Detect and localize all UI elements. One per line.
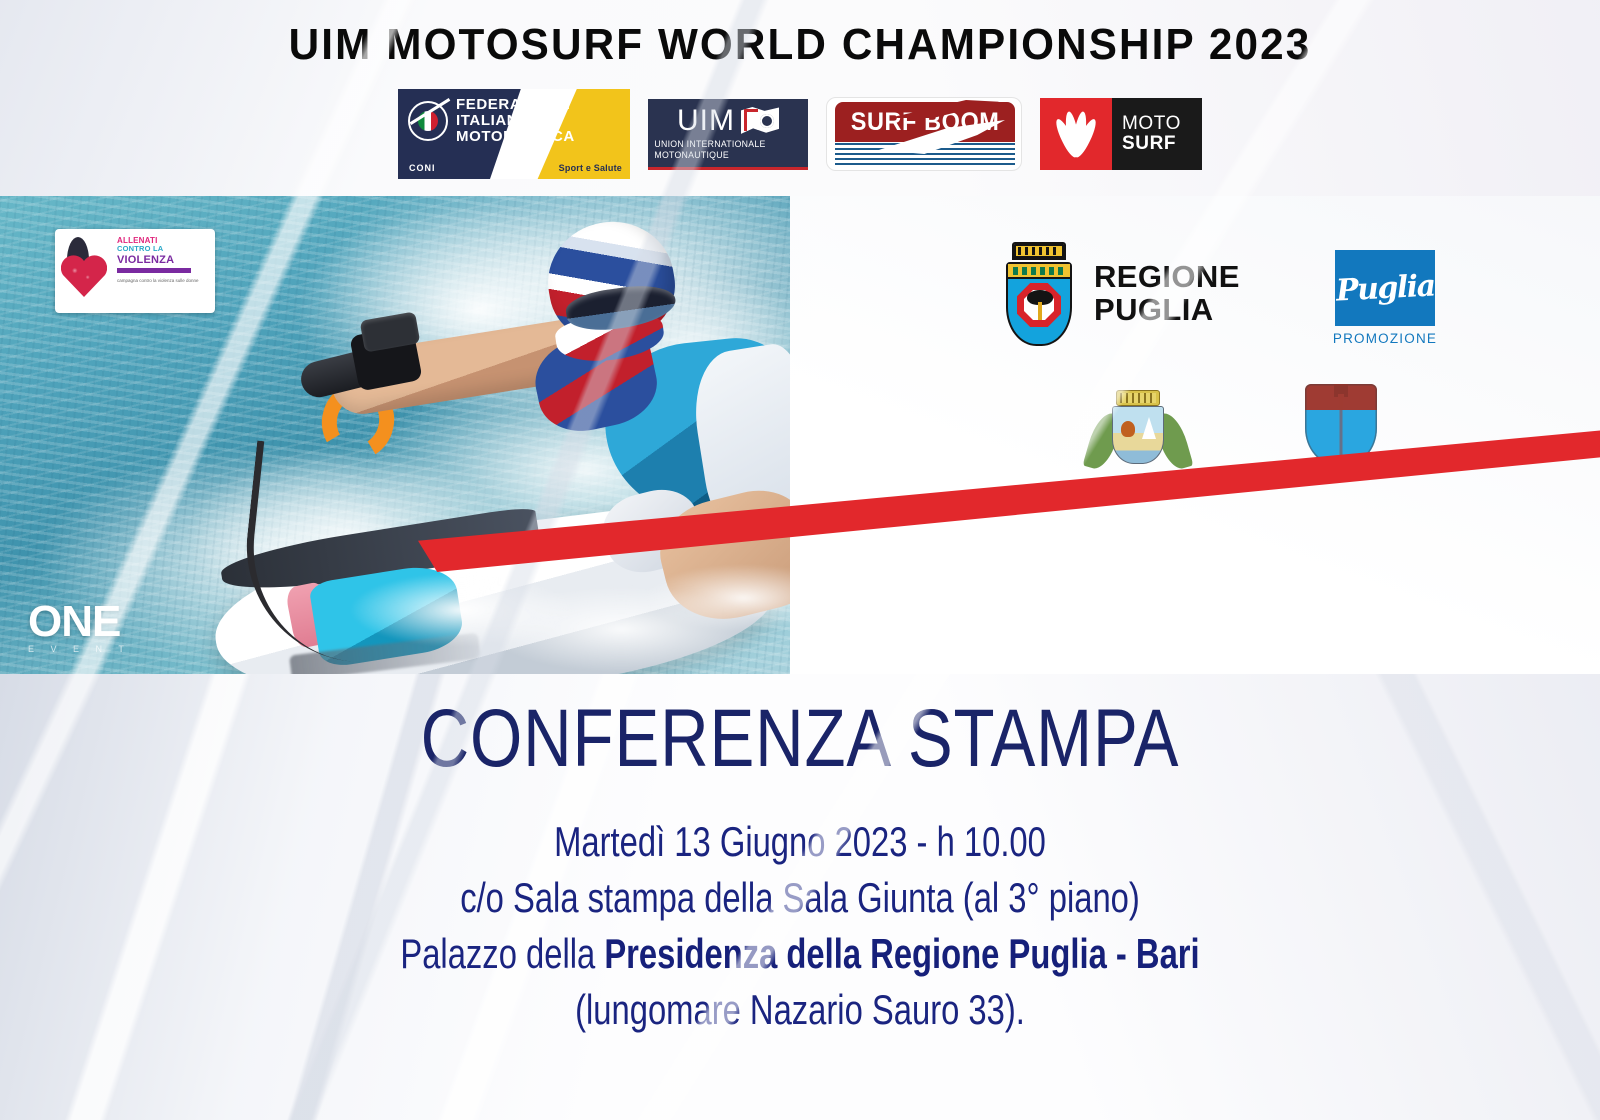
event-room-line: c/o Sala stampa della Sala Giunta (al 3°… xyxy=(176,870,1424,926)
comune-coat-of-arms-1 xyxy=(1090,390,1186,496)
event-datetime-line: Martedì 13 Giugno 2023 - h 10.00 xyxy=(176,814,1424,870)
fim-line-1: FEDERAZIONE xyxy=(456,97,575,113)
campaign-line-2: CONTRO LA xyxy=(117,245,210,254)
institutional-sponsor-block: REGIONE PUGLIA Puglia PROMOZIONE Cagnano… xyxy=(960,232,1580,512)
regione-puglia-coat-of-arms-icon xyxy=(1000,242,1078,346)
comune-coat-of-arms-2: Cagnano Varano xyxy=(1295,384,1387,482)
uim-logo: UIM UNION INTERNATIONALE MOTONAUTIQUE xyxy=(648,99,808,170)
page-title: UIM MOTOSURF WORLD CHAMPIONSHIP 2023 xyxy=(32,20,1568,70)
regione-puglia-wordmark: REGIONE PUGLIA xyxy=(1094,261,1240,326)
one-event-subtitle: E V E N T xyxy=(28,644,131,654)
comune-1-ribbon xyxy=(1102,480,1174,494)
campaign-artwork xyxy=(55,229,115,313)
uim-subtitle: UNION INTERNATIONALE MOTONAUTIQUE xyxy=(654,139,801,161)
comune-1-shield-icon xyxy=(1112,406,1164,464)
fim-line-3: MOTONAUTICA xyxy=(456,129,575,145)
federazione-italiana-motonautica-logo: FEDERAZIONE ITALIANA MOTONAUTICA CONI Sp… xyxy=(398,89,630,179)
moto-surf-logo: MOTO SURF xyxy=(1040,98,1202,170)
regione-line-1: REGIONE xyxy=(1094,261,1240,294)
coni-label: CONI xyxy=(409,163,436,173)
pugliapromozione-logo: Puglia PROMOZIONE xyxy=(1330,250,1440,346)
venue-prefix: Palazzo della xyxy=(400,930,604,977)
puglia-script-wordmark: Puglia xyxy=(1335,268,1435,308)
foam-wake xyxy=(330,562,790,674)
fim-wordmark: FEDERAZIONE ITALIANA MOTONAUTICA xyxy=(456,97,575,144)
event-details-text: Martedì 13 Giugno 2023 - h 10.00 c/o Sal… xyxy=(0,814,1600,1037)
anti-violence-campaign-banner: ALLENATI CONTRO LA VIOLENZA campagna con… xyxy=(55,229,215,313)
uim-acronym: UIM xyxy=(677,104,735,138)
sponsor-logo-row: FEDERAZIONE ITALIANA MOTONAUTICA CONI Sp… xyxy=(0,88,1600,180)
moto-surf-petal-icon xyxy=(1055,111,1097,157)
moto-surf-black-panel: MOTO SURF xyxy=(1112,98,1202,170)
poster-root: UIM MOTOSURF WORLD CHAMPIONSHIP 2023 FED… xyxy=(0,0,1600,1120)
fim-line-2: ITALIANA xyxy=(456,113,575,129)
coat-of-arms-crown xyxy=(1012,242,1066,260)
moto-surf-line-1: MOTO xyxy=(1122,114,1202,134)
surf-boom-logo: SURF BOOM xyxy=(826,97,1022,171)
event-venue-line: Palazzo della Presidenza della Regione P… xyxy=(176,926,1424,982)
uim-flag-icon xyxy=(741,107,779,135)
campaign-line-3: VIOLENZA xyxy=(117,254,210,266)
comune-1-crown-icon xyxy=(1116,390,1160,406)
uim-red-underline xyxy=(648,167,808,170)
moto-surf-red-panel xyxy=(1040,98,1112,170)
promozione-label: PROMOZIONE xyxy=(1330,331,1440,346)
event-address-line: (lungomare Nazario Sauro 33). xyxy=(176,982,1424,1038)
event-details-panel: CONFERENZA STAMPA Martedì 13 Giugno 2023… xyxy=(0,674,1600,1120)
regione-line-2: PUGLIA xyxy=(1094,294,1240,327)
sport-e-salute-label: Sport e Salute xyxy=(559,163,622,173)
header-band: UIM MOTOSURF WORLD CHAMPIONSHIP 2023 FED… xyxy=(0,0,1600,196)
coat-of-arms-gold-band xyxy=(1008,264,1070,279)
coat-of-arms-shield xyxy=(1006,262,1072,346)
cagnano-varano-shield-icon xyxy=(1305,384,1377,466)
pugliapromozione-blue-box: Puglia xyxy=(1335,250,1435,326)
olive-tree-icon xyxy=(1034,290,1046,320)
venue-name: Presidenza della Regione Puglia - Bari xyxy=(604,930,1199,977)
one-event-logo: ONE E V E N T xyxy=(28,602,131,654)
moto-surf-line-2: SURF xyxy=(1122,134,1202,154)
one-wordmark: ONE xyxy=(28,602,131,642)
hero-photo: ALLENATI CONTRO LA VIOLENZA campagna con… xyxy=(0,196,790,674)
cagnano-varano-label: Cagnano Varano xyxy=(1295,470,1387,482)
fim-anchor-seal-icon xyxy=(408,101,448,141)
campaign-footnote: campagna contro la violenza sulle donne xyxy=(117,278,210,285)
regione-puglia-logo: REGIONE PUGLIA xyxy=(1000,242,1240,346)
campaign-accent-bar xyxy=(117,268,191,273)
conference-headline: CONFERENZA STAMPA xyxy=(144,692,1456,786)
